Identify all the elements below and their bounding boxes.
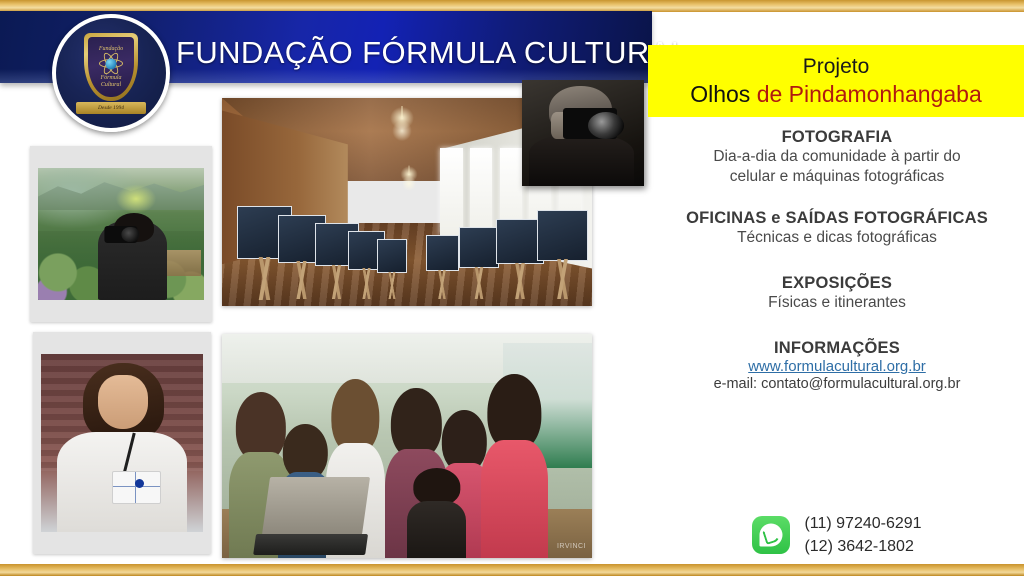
gold-border-bottom <box>0 564 1024 576</box>
section-informacoes-heading: INFORMAÇÕES <box>650 339 1024 358</box>
photo-bw-photographer <box>522 80 644 186</box>
section-fotografia-body: Dia-a-dia da comunidade à partir docelul… <box>650 147 1024 187</box>
project-name-part2: de Pindamonhangaba <box>757 81 982 107</box>
whatsapp-icon[interactable] <box>752 516 790 554</box>
logo-ribbon-text: Desde 1994 <box>98 105 124 111</box>
contact-block: (11) 97240-6291 (12) 3642-1802 <box>650 512 1024 558</box>
section-exposicoes-heading: EXPOSIÇÕES <box>650 274 1024 293</box>
photo-watermark: IRVINCI <box>557 543 586 550</box>
phone-number-2: (12) 3642-1802 <box>804 535 921 558</box>
project-label: Projeto <box>803 54 870 80</box>
project-title-box: Projeto Olhos de Pindamonhangaba <box>648 45 1024 117</box>
phone-number-1: (11) 97240-6291 <box>804 512 921 535</box>
section-exposicoes: EXPOSIÇÕES Físicas e itinerantes <box>650 274 1024 313</box>
page-title: FUNDAÇÃO FÓRMULA CULTURAL <box>176 35 688 71</box>
shield-line-2: Fórmula <box>101 75 122 82</box>
logo-ribbon: Desde 1994 <box>76 102 146 114</box>
section-oficinas-body: Técnicas e dicas fotográficas <box>650 228 1024 248</box>
section-fotografia-heading: FOTOGRAFIA <box>650 128 1024 147</box>
section-exposicoes-body: Físicas e itinerantes <box>650 293 1024 313</box>
organization-logo: Fundação Fórmula Cultural Desde 1994 <box>52 14 170 132</box>
website-link[interactable]: www.formulacultural.org.br <box>748 358 926 375</box>
photo-kids-with-laptop: IRVINCI <box>222 334 592 558</box>
section-fotografia: FOTOGRAFIA Dia-a-dia da comunidade à par… <box>650 128 1024 187</box>
project-name-part1: Olhos <box>690 81 750 107</box>
email-address: e-mail: contato@formulacultural.org.br <box>650 376 1024 392</box>
shield-icon: Fundação Fórmula Cultural <box>84 33 138 101</box>
photo-landscape-photographer <box>30 146 212 322</box>
section-oficinas: OFICINAS e SAÍDAS FOTOGRÁFICAS Técnicas … <box>650 209 1024 248</box>
slide-root: FUNDAÇÃO FÓRMULA CULTURAL Fundação Fórmu… <box>0 0 1024 576</box>
info-column: FOTOGRAFIA Dia-a-dia da comunidade à par… <box>650 128 1024 392</box>
shield-line-1: Fundação <box>99 46 123 53</box>
shield-line-3: Cultural <box>101 82 121 89</box>
section-oficinas-heading: OFICINAS e SAÍDAS FOTOGRÁFICAS <box>650 209 1024 228</box>
atom-globe-icon <box>99 55 123 73</box>
section-informacoes: INFORMAÇÕES www.formulacultural.org.br e… <box>650 339 1024 392</box>
phone-list: (11) 97240-6291 (12) 3642-1802 <box>804 512 921 558</box>
project-name: Olhos de Pindamonhangaba <box>690 80 982 108</box>
photo-woman-with-device <box>33 332 211 554</box>
